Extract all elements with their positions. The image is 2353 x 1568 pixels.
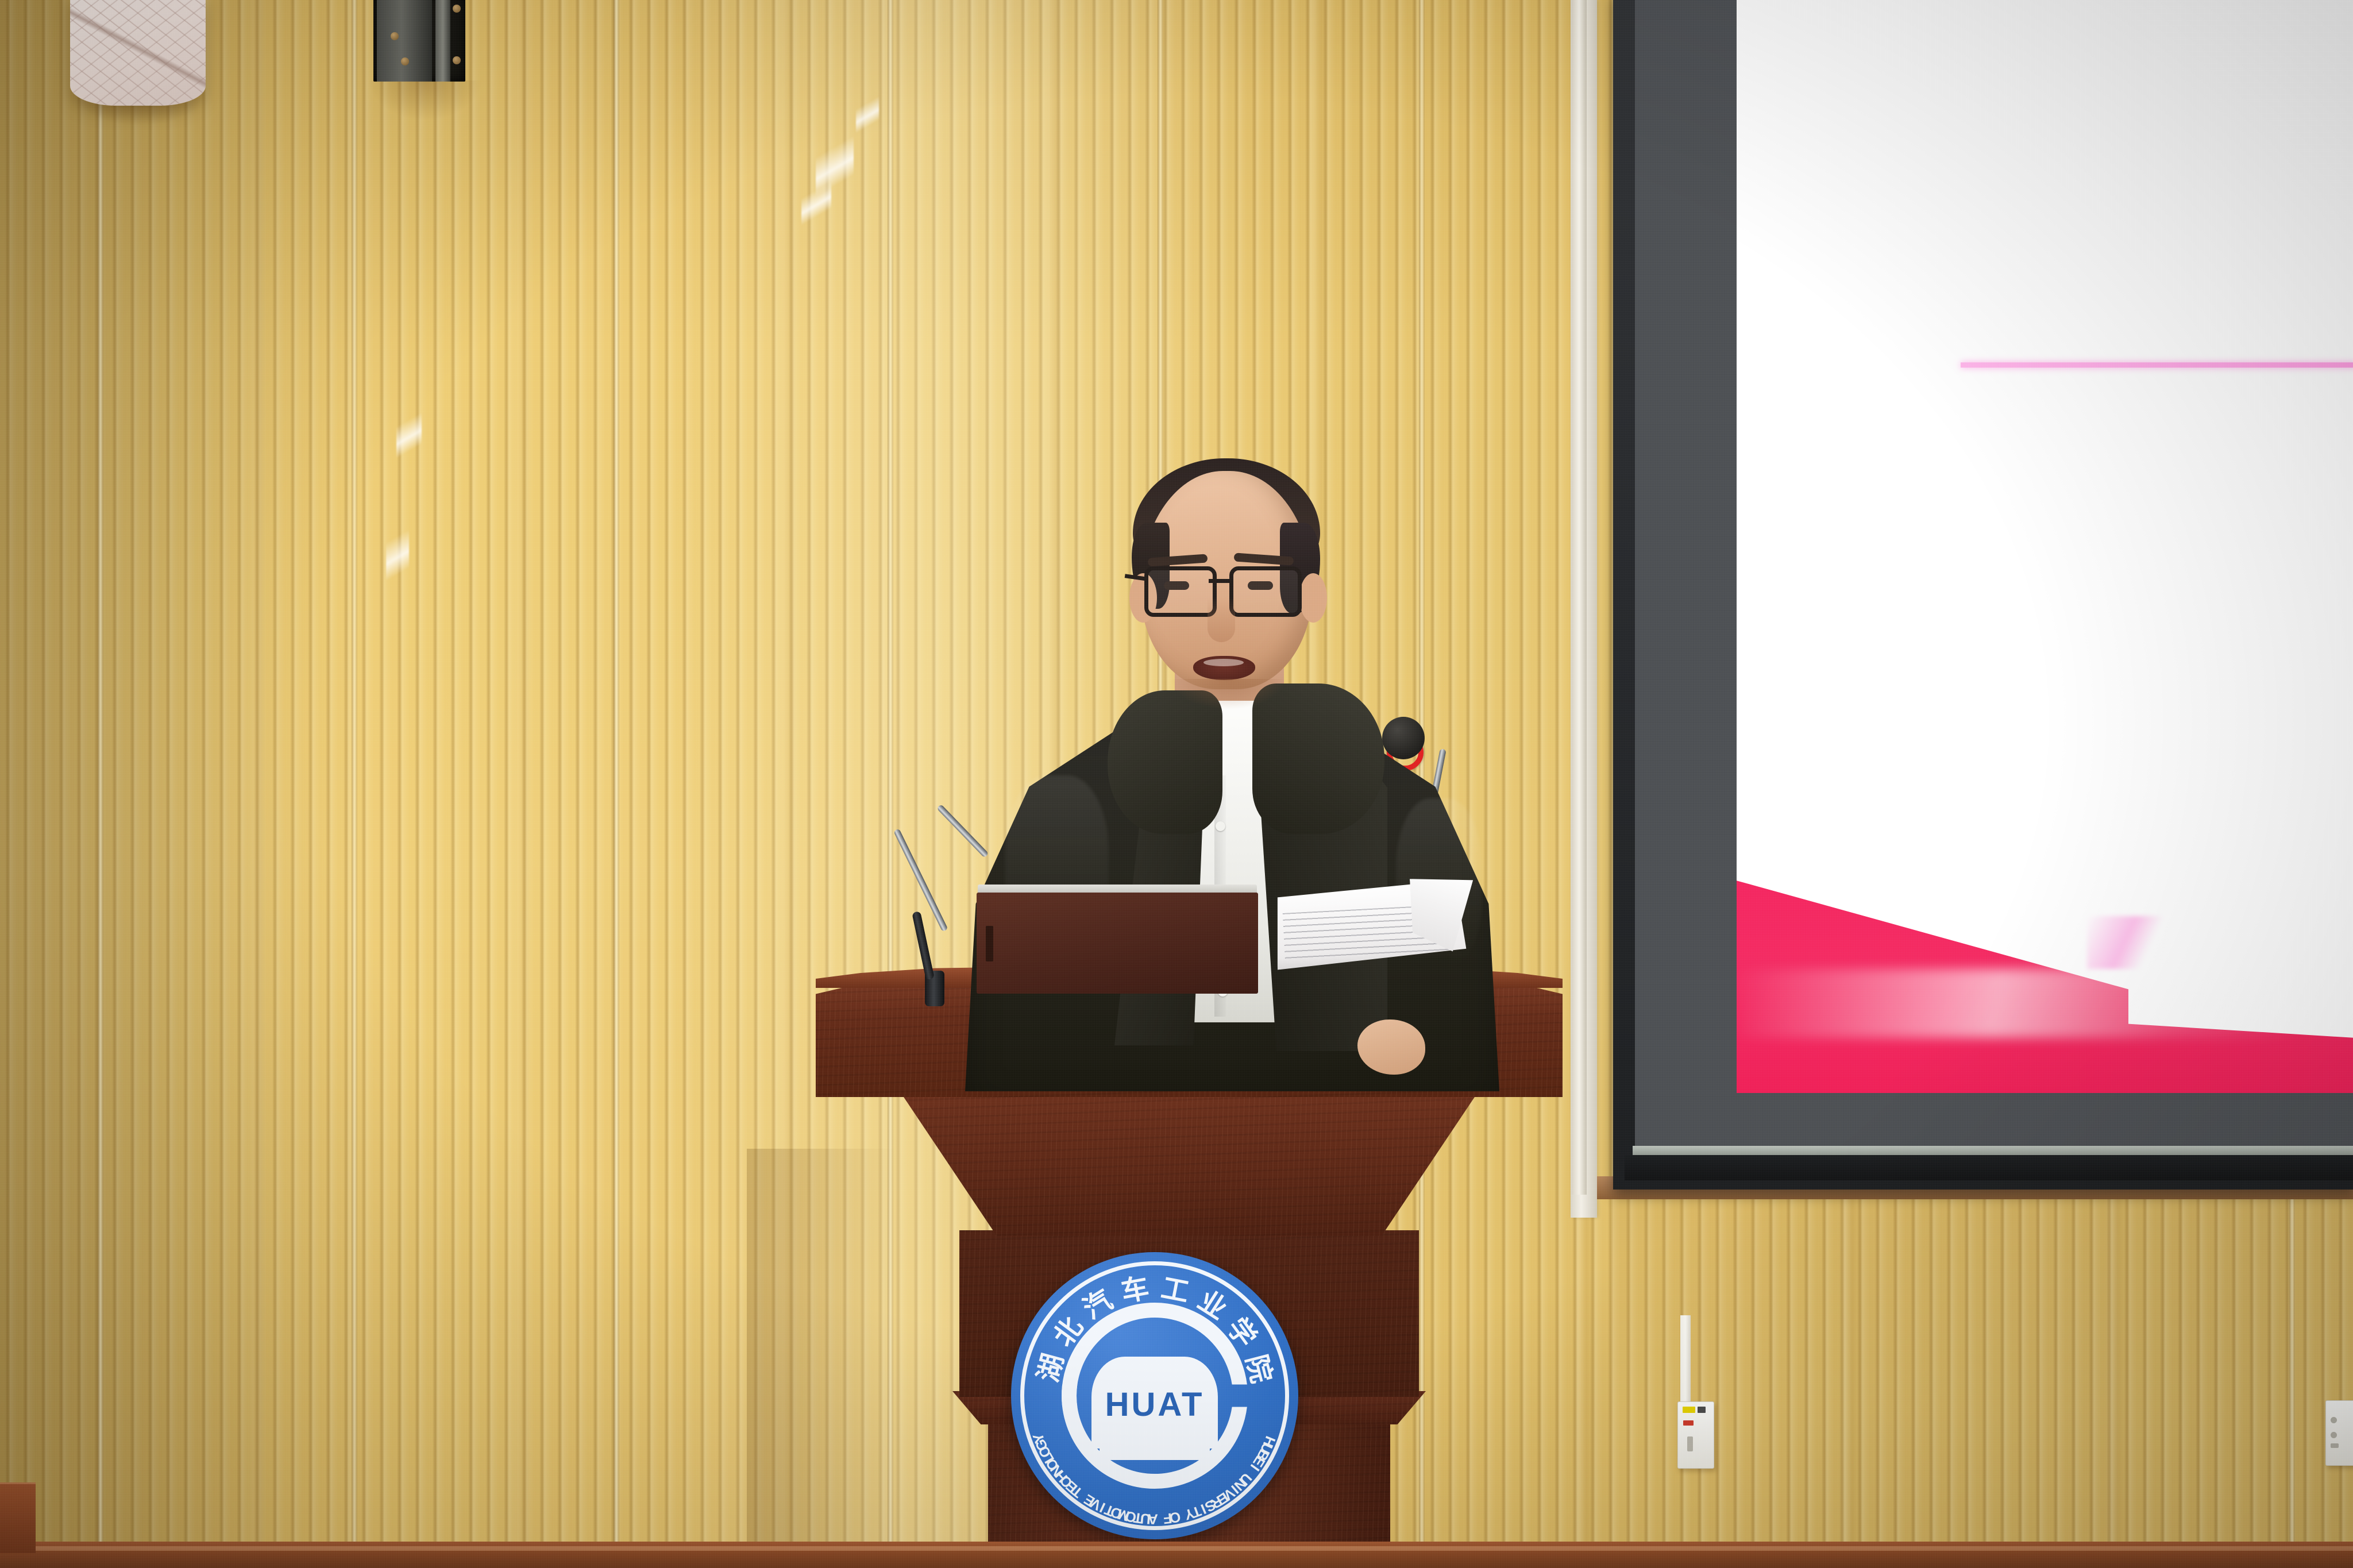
wall-seam	[352, 0, 357, 1568]
screen-foot	[1625, 1155, 2353, 1180]
nose	[1208, 597, 1235, 642]
wall-left-shading	[0, 0, 368, 1568]
recessed-metal-bracket	[373, 0, 465, 82]
eyeglasses	[1229, 566, 1302, 617]
shirt-button	[1216, 821, 1225, 831]
wall-power-outlet-left[interactable]	[1677, 1401, 1714, 1469]
slide-light-streak	[1737, 969, 2353, 1038]
socket-pin-hole	[2331, 1417, 2337, 1423]
eyeglasses	[1144, 566, 1217, 617]
wall-seam	[614, 0, 619, 1568]
screw-icon	[453, 56, 461, 64]
baseboard-highlight	[0, 1546, 2353, 1551]
huat-university-emblem: HUAT 湖北汽车工业学院 HUBEI UNIVERSITY OF AUTOMO…	[1011, 1252, 1298, 1539]
wood-grain	[846, 1092, 1533, 1236]
laptop-port	[986, 926, 993, 961]
speech-notes[interactable]	[1274, 879, 1467, 970]
bracket-bar	[435, 0, 450, 82]
conference-hall-scene: HUAT 湖北汽车工业学院 HUBEI UNIVERSITY OF AUTOMO…	[0, 0, 2353, 1568]
wall-seam	[98, 0, 103, 1568]
teeth	[1203, 659, 1244, 666]
socket-pin-hole	[2331, 1432, 2337, 1438]
wall-gloss-reflection	[801, 172, 831, 241]
projection-screen[interactable]	[1613, 0, 2353, 1189]
podium-skirt	[846, 1092, 1533, 1236]
outlet-switch-slot[interactable]	[1687, 1436, 1693, 1451]
bracket-shadow	[368, 80, 483, 121]
bracket-plate	[377, 0, 432, 82]
ear	[1299, 573, 1327, 623]
laptop-lid	[977, 893, 1258, 994]
screen-edge-trim	[1572, 0, 1587, 1195]
jacket-collar-left	[1108, 690, 1222, 834]
wall-gloss-reflection	[396, 396, 422, 482]
emblem-english-name: HUBEI UNIVERSITY OF AUTOMOTIVE TECHNOLOG…	[1011, 1252, 1298, 1539]
wood-baseboard	[0, 1542, 2353, 1568]
screw-icon	[401, 57, 409, 65]
wall-seam	[2289, 1183, 2295, 1568]
wall-lamp-sconce	[70, 0, 206, 106]
socket-pin-hole	[2331, 1443, 2339, 1448]
lenovo-laptop[interactable]	[977, 885, 1258, 994]
wall-gloss-reflection	[856, 86, 879, 149]
screw-icon	[453, 5, 461, 13]
slide-sparkle	[2087, 916, 2173, 969]
outlet-red-label	[1683, 1420, 1694, 1426]
outlet-yellow-label	[1683, 1407, 1695, 1413]
eyeglasses-bridge	[1209, 579, 1229, 583]
screw-icon	[391, 32, 399, 40]
outlet-grey-label	[1698, 1407, 1706, 1413]
cable-conduit	[1680, 1315, 1691, 1416]
wall-power-outlet-right[interactable]	[2325, 1400, 2353, 1466]
slide-surface	[1737, 0, 2353, 1093]
sconce-diagonal-seam	[70, 0, 206, 106]
pink-horizontal-rule	[1961, 362, 2353, 368]
floor-corner-block	[0, 1482, 36, 1553]
screen-frame	[1613, 0, 2353, 1189]
wall-right-shading	[1612, 1183, 2353, 1568]
wall-gloss-reflection	[386, 505, 409, 615]
chin-shadow	[1172, 679, 1284, 709]
